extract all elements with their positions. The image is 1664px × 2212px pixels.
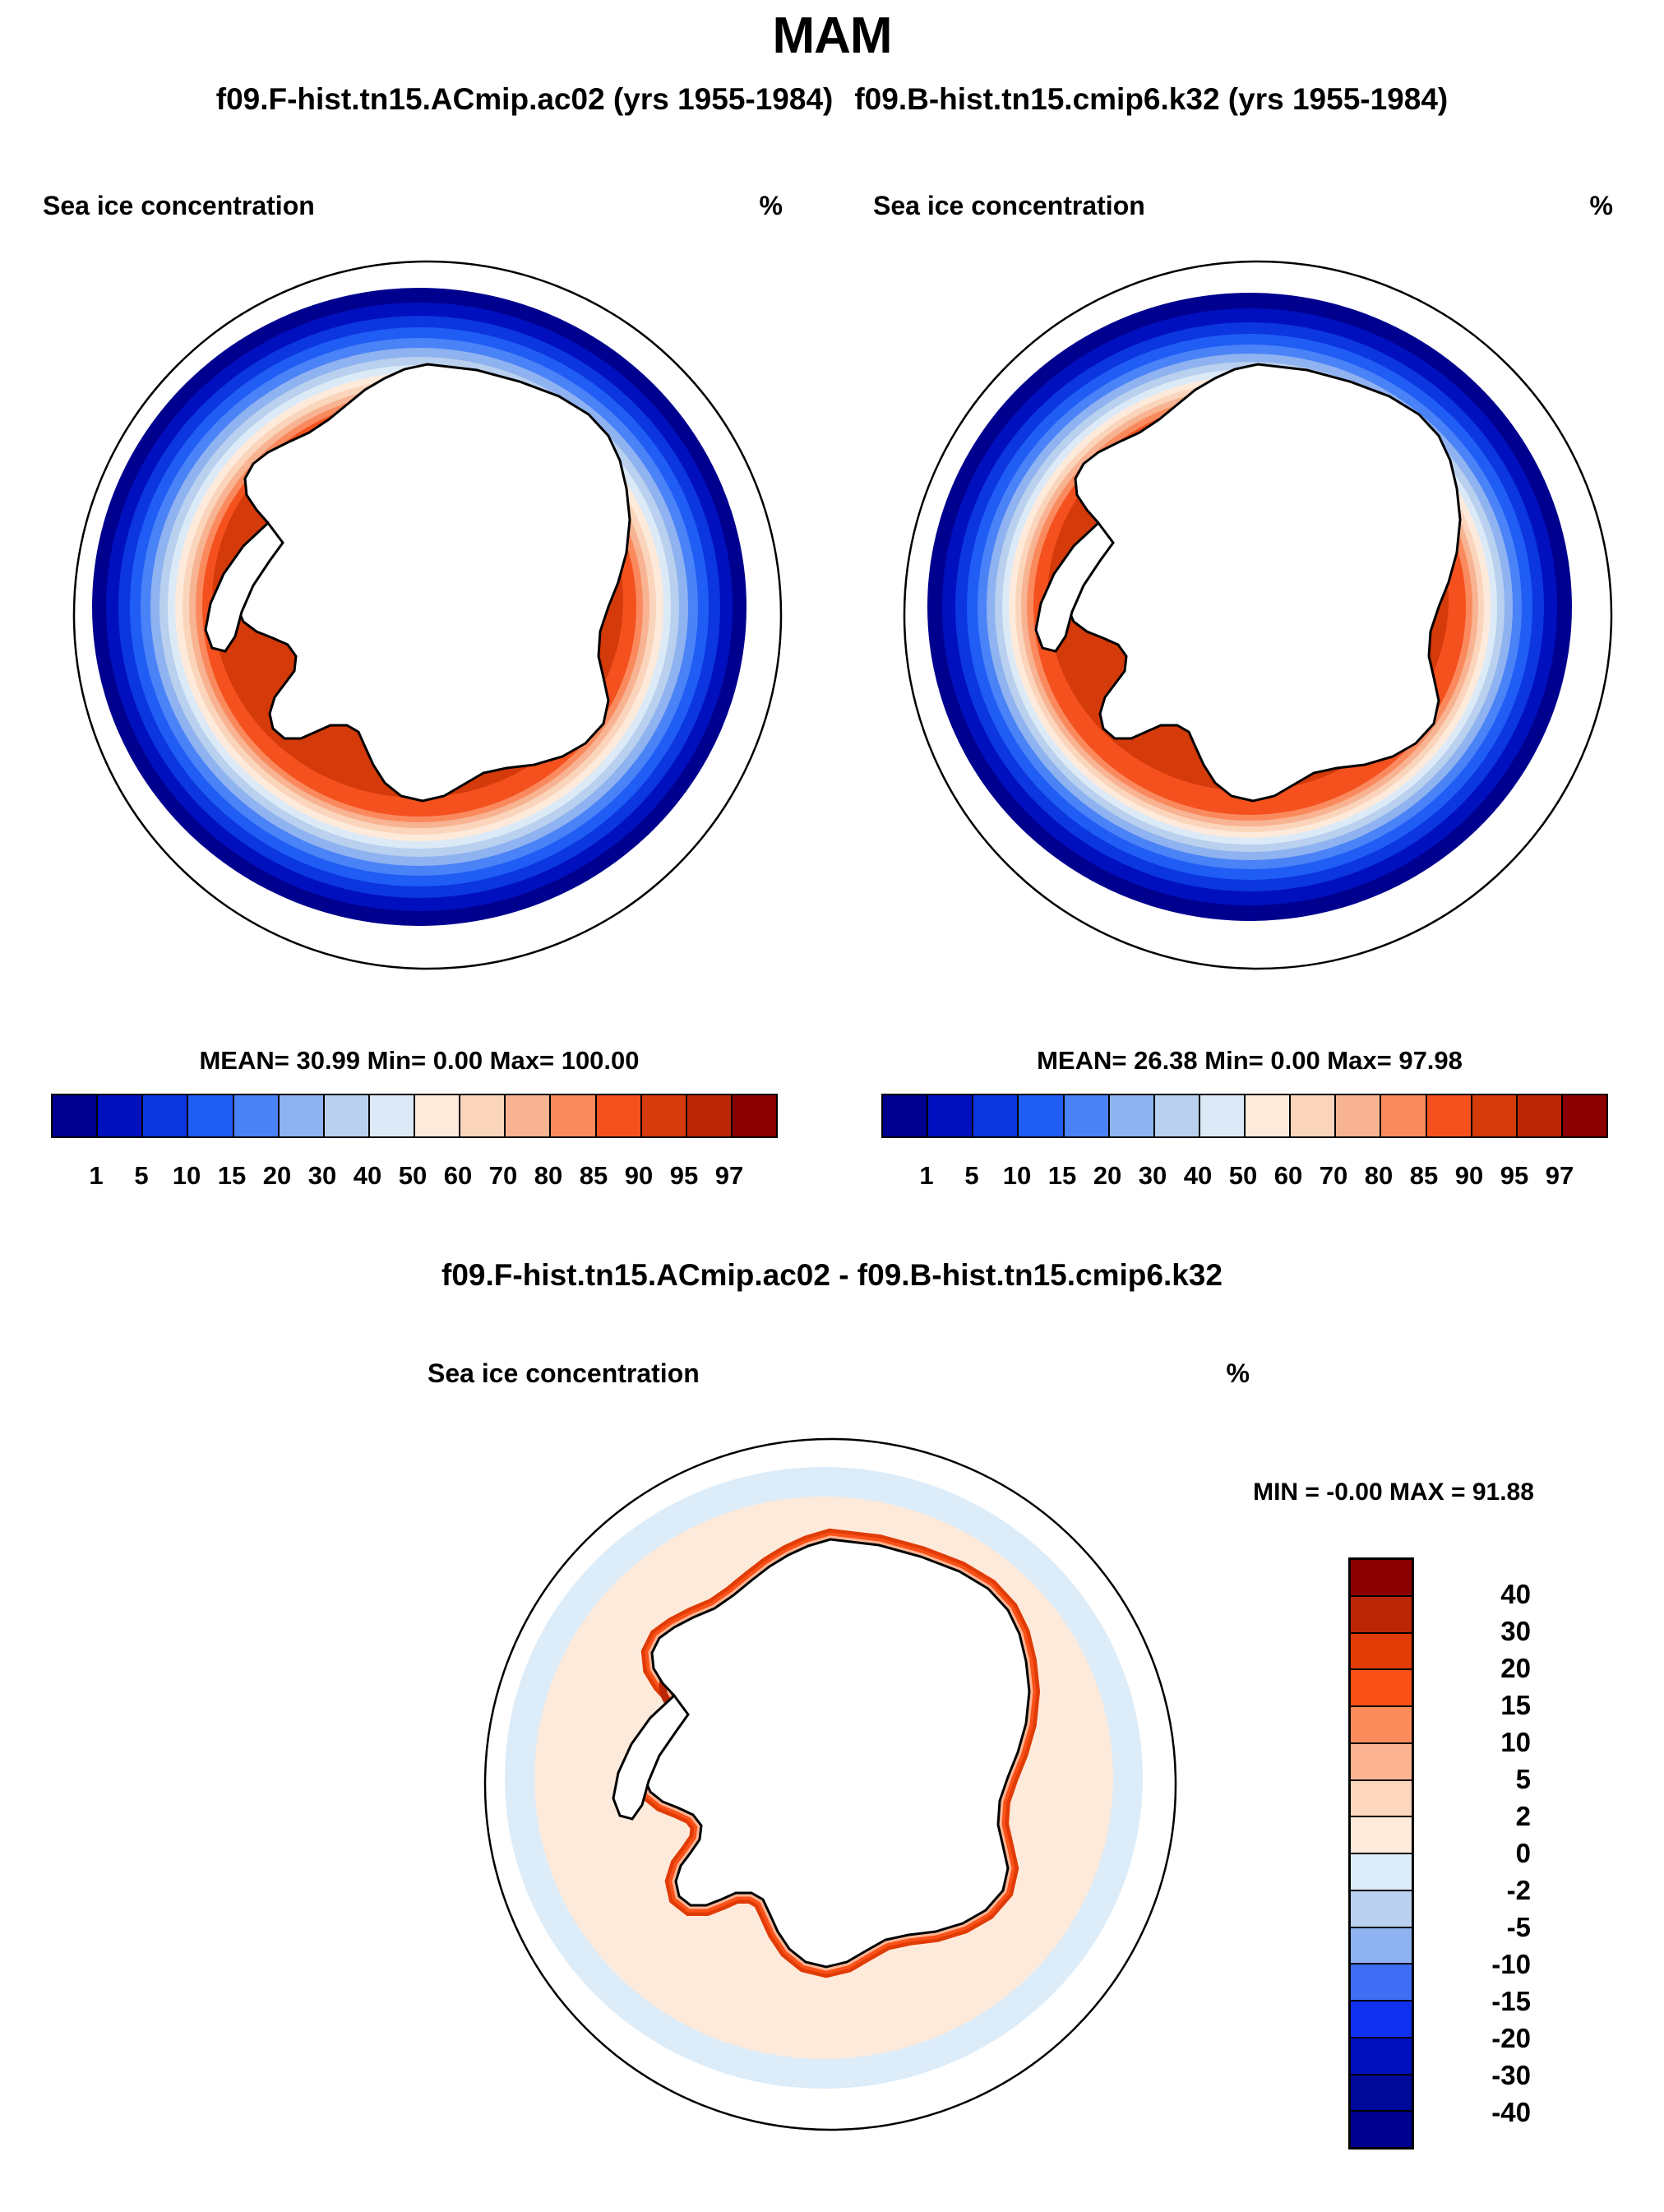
- colorbar-tick-label: -30: [1424, 2060, 1531, 2091]
- colorbar-tick-label: 97: [707, 1161, 752, 1194]
- units-label-right: %: [1590, 191, 1613, 221]
- colorbar-cell: [687, 1095, 733, 1136]
- colorbar-tick-label: 15: [1040, 1161, 1085, 1194]
- units-label-diff: %: [1227, 1358, 1250, 1389]
- colorbar-cell: [1351, 1560, 1412, 1597]
- colorbar-cell: [1291, 1095, 1336, 1136]
- colorbar-cell: [234, 1095, 280, 1136]
- subtitle-right-case: f09.B-hist.tn15.cmip6.k32 (yrs 1955-1984…: [854, 82, 1448, 117]
- colorbar-right-labels: 1510152030405060708085909597: [881, 1161, 1605, 1194]
- difference-title: f09.F-hist.tn15.ACmip.ac02 - f09.B-hist.…: [0, 1258, 1664, 1293]
- colorbar-tick-label: 70: [1311, 1161, 1357, 1194]
- colorbar-cell: [1019, 1095, 1064, 1136]
- sea-ice-difference-field: [505, 1467, 1143, 2089]
- colorbar-tick-label: 20: [1424, 1653, 1531, 1684]
- colorbar-cell: [1351, 1781, 1412, 1818]
- colorbar-cell: [733, 1095, 776, 1136]
- colorbar-cell: [973, 1095, 1019, 1136]
- colorbar-tick-label: 20: [1085, 1161, 1130, 1194]
- colorbar-cell: [1351, 2001, 1412, 2038]
- colorbar-cell: [143, 1095, 188, 1136]
- colorbar-tick-label: 80: [526, 1161, 571, 1194]
- variable-label-left: Sea ice concentration: [43, 191, 315, 221]
- colorbar-tick-label: 30: [1424, 1616, 1531, 1647]
- colorbar-cell: [1381, 1095, 1426, 1136]
- polar-map-left: [33, 220, 822, 1010]
- units-label-left: %: [760, 191, 783, 221]
- colorbar-cell: [415, 1095, 460, 1136]
- panel-header-diff: Sea ice concentration %: [428, 1358, 1250, 1389]
- colorbar-cell: [1351, 1891, 1412, 1928]
- colorbar-cell: [1200, 1095, 1246, 1136]
- colorbar-left-labels: 1510152030405060708085909597: [51, 1161, 774, 1194]
- colorbar-tick-label: -15: [1424, 1986, 1531, 2017]
- colorbar-cell: [1472, 1095, 1518, 1136]
- polar-map-right: [863, 220, 1652, 1010]
- colorbar-tick-label: 40: [345, 1161, 391, 1194]
- colorbar-cell: [1351, 1964, 1412, 2001]
- stats-diff: MIN = -0.00 MAX = 91.88: [1196, 1479, 1591, 1506]
- colorbar-cell: [1246, 1095, 1291, 1136]
- colorbar-tick-label: 70: [481, 1161, 526, 1194]
- colorbar-tick-label: 20: [255, 1161, 300, 1194]
- colorbar-tick-label: -40: [1424, 2097, 1531, 2128]
- colorbar-cell: [1155, 1095, 1200, 1136]
- sea-ice-field-left: [92, 288, 746, 926]
- colorbar-cell: [642, 1095, 687, 1136]
- colorbar-cell: [460, 1095, 506, 1136]
- colorbar-cell: [1351, 1707, 1412, 1744]
- colorbar-cell: [98, 1095, 143, 1136]
- colorbar-tick-label: 5: [119, 1161, 164, 1194]
- colorbar-tick-label: 85: [1402, 1161, 1447, 1194]
- sea-ice-field-right: [927, 293, 1572, 921]
- colorbar-cell: [1351, 2075, 1412, 2113]
- colorbar-cell: [597, 1095, 642, 1136]
- colorbar-cell: [551, 1095, 596, 1136]
- stats-right: MEAN= 26.38 Min= 0.00 Max= 97.98: [863, 1046, 1636, 1076]
- colorbar-tick-label: -2: [1424, 1875, 1531, 1906]
- colorbar-tick-label: -10: [1424, 1949, 1531, 1980]
- colorbar-difference-wrap: 4030201510520-2-5-10-15-20-30-40: [1348, 1557, 1611, 2150]
- colorbar-cell: [928, 1095, 973, 1136]
- colorbar-cell: [1351, 2112, 1412, 2147]
- variable-label-diff: Sea ice concentration: [428, 1358, 700, 1389]
- colorbar-cell: [1336, 1095, 1381, 1136]
- colorbar-cell: [53, 1095, 98, 1136]
- polar-stereographic-plot-left: [33, 220, 822, 1010]
- colorbar-cell: [1110, 1095, 1155, 1136]
- colorbar-tick-label: 1: [74, 1161, 119, 1194]
- colorbar-tick-label: -20: [1424, 2023, 1531, 2054]
- colorbar-tick-label: 10: [995, 1161, 1040, 1194]
- colorbar-cell: [1065, 1095, 1110, 1136]
- panel-header-left: Sea ice concentration %: [43, 191, 783, 221]
- colorbar-cell: [883, 1095, 928, 1136]
- colorbar-difference: [1348, 1557, 1414, 2150]
- colorbar-right: [881, 1094, 1608, 1138]
- colorbar-cell: [325, 1095, 370, 1136]
- colorbar-cell: [1563, 1095, 1606, 1136]
- colorbar-tick-label: 97: [1537, 1161, 1583, 1194]
- colorbar-tick-label: 5: [1424, 1764, 1531, 1795]
- stats-left: MEAN= 30.99 Min= 0.00 Max= 100.00: [33, 1046, 806, 1076]
- colorbar-tick-label: 50: [391, 1161, 436, 1194]
- colorbar-left: [51, 1094, 778, 1138]
- subtitle-left-case: f09.F-hist.tn15.ACmip.ac02 (yrs 1955-198…: [216, 82, 834, 117]
- colorbar-cell: [1351, 1597, 1412, 1634]
- colorbar-tick-label: 60: [436, 1161, 481, 1194]
- colorbar-tick-label: 1: [904, 1161, 950, 1194]
- colorbar-tick-label: 40: [1424, 1579, 1531, 1610]
- colorbar-cell: [1351, 1744, 1412, 1781]
- polar-stereographic-plot-difference: [444, 1398, 1217, 2171]
- colorbar-tick-label: 90: [1447, 1161, 1492, 1194]
- colorbar-tick-label: 15: [210, 1161, 255, 1194]
- colorbar-tick-label: 10: [164, 1161, 210, 1194]
- colorbar-cell: [1351, 1670, 1412, 1707]
- colorbar-tick-label: 0: [1424, 1838, 1531, 1869]
- colorbar-tick-label: -5: [1424, 1912, 1531, 1943]
- polar-map-difference: [444, 1398, 1217, 2171]
- colorbar-cell: [1351, 1634, 1412, 1671]
- colorbar-cell: [1518, 1095, 1563, 1136]
- page-title: MAM: [0, 7, 1664, 65]
- colorbar-tick-label: 90: [617, 1161, 662, 1194]
- colorbar-tick-label: 30: [1130, 1161, 1176, 1194]
- colorbar-cell: [1351, 1928, 1412, 1965]
- colorbar-tick-label: 85: [571, 1161, 617, 1194]
- colorbar-cell: [370, 1095, 415, 1136]
- colorbar-tick-label: 50: [1221, 1161, 1266, 1194]
- subtitle-row: f09.F-hist.tn15.ACmip.ac02 (yrs 1955-198…: [0, 82, 1664, 117]
- colorbar-tick-label: 40: [1176, 1161, 1221, 1194]
- colorbar-tick-label: 10: [1424, 1727, 1531, 1758]
- colorbar-cell: [1351, 1817, 1412, 1854]
- colorbar-cell: [280, 1095, 325, 1136]
- colorbar-difference-labels: 4030201510520-2-5-10-15-20-30-40: [1424, 1557, 1547, 2150]
- colorbar-tick-label: 2: [1424, 1801, 1531, 1832]
- colorbar-tick-label: 80: [1357, 1161, 1402, 1194]
- colorbar-cell: [188, 1095, 233, 1136]
- colorbar-cell: [1351, 1854, 1412, 1891]
- colorbar-cell: [506, 1095, 551, 1136]
- variable-label-right: Sea ice concentration: [873, 191, 1145, 221]
- colorbar-tick-label: 15: [1424, 1690, 1531, 1721]
- colorbar-tick-label: 95: [662, 1161, 707, 1194]
- colorbar-tick-label: 95: [1492, 1161, 1537, 1194]
- colorbar-tick-label: 60: [1266, 1161, 1311, 1194]
- colorbar-tick-label: 5: [950, 1161, 995, 1194]
- colorbar-cell: [1351, 2038, 1412, 2075]
- colorbar-tick-label: 30: [300, 1161, 345, 1194]
- colorbar-cell: [1427, 1095, 1472, 1136]
- polar-stereographic-plot-right: [863, 220, 1652, 1010]
- panel-header-right: Sea ice concentration %: [873, 191, 1613, 221]
